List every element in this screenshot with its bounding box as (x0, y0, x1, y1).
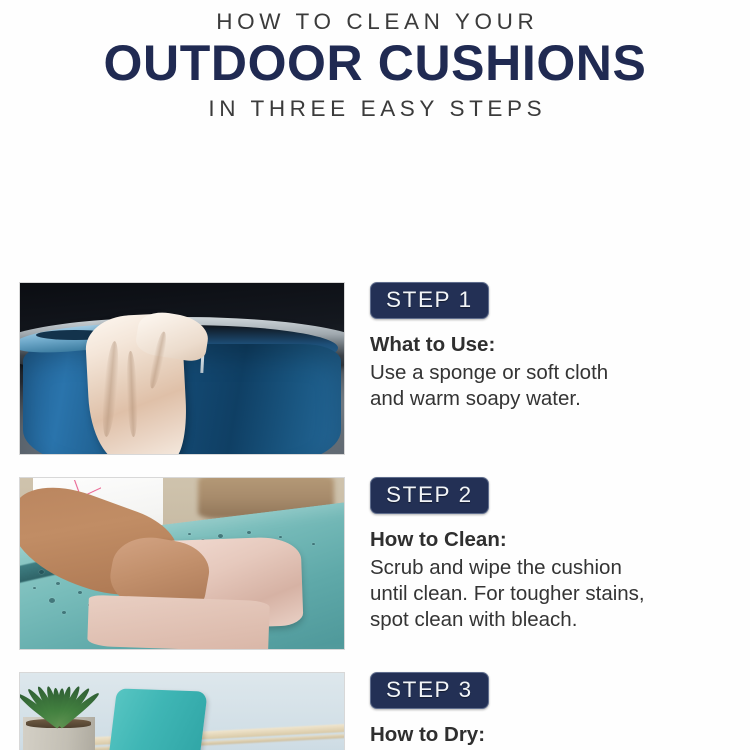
step-1-image (19, 282, 345, 455)
step-2-heading: How to Clean: (370, 527, 740, 553)
step-2-content: STEP 2 How to Clean: Scrub and wipe the … (370, 477, 740, 634)
step-3-heading: How to Dry: (370, 722, 740, 748)
step-1-heading: What to Use: (370, 332, 740, 358)
chair-back-cushion (105, 688, 207, 750)
lounge-chair-illustration (20, 673, 344, 750)
infographic-page: HOW TO CLEAN YOUR OUTDOOR CUSHIONS IN TH… (0, 0, 750, 750)
bucket-and-cloth-illustration (20, 283, 344, 454)
step-3-image (19, 672, 345, 750)
page-header: HOW TO CLEAN YOUR OUTDOOR CUSHIONS IN TH… (0, 0, 750, 122)
step-2-badge: STEP 2 (370, 477, 489, 515)
agave-plant (26, 675, 91, 726)
pink-cloth-lower-fold (87, 594, 270, 648)
step-3-badge: STEP 3 (370, 672, 489, 710)
wiping-cushion-illustration (20, 478, 344, 649)
page-title: OUTDOOR CUSHIONS (0, 37, 750, 90)
step-1-badge: STEP 1 (370, 282, 489, 320)
step-2-body: Scrub and wipe the cushion until clean. … (370, 555, 740, 634)
step-1-body: Use a sponge or soft cloth and warm soap… (370, 360, 740, 413)
header-sub-line: IN THREE EASY STEPS (0, 96, 750, 122)
step-3-content: STEP 3 How to Dry: Set out in sunshine a… (370, 672, 740, 750)
step-2-image (19, 477, 345, 650)
step-1-content: STEP 1 What to Use: Use a sponge or soft… (370, 282, 740, 412)
header-top-line: HOW TO CLEAN YOUR (0, 9, 750, 34)
